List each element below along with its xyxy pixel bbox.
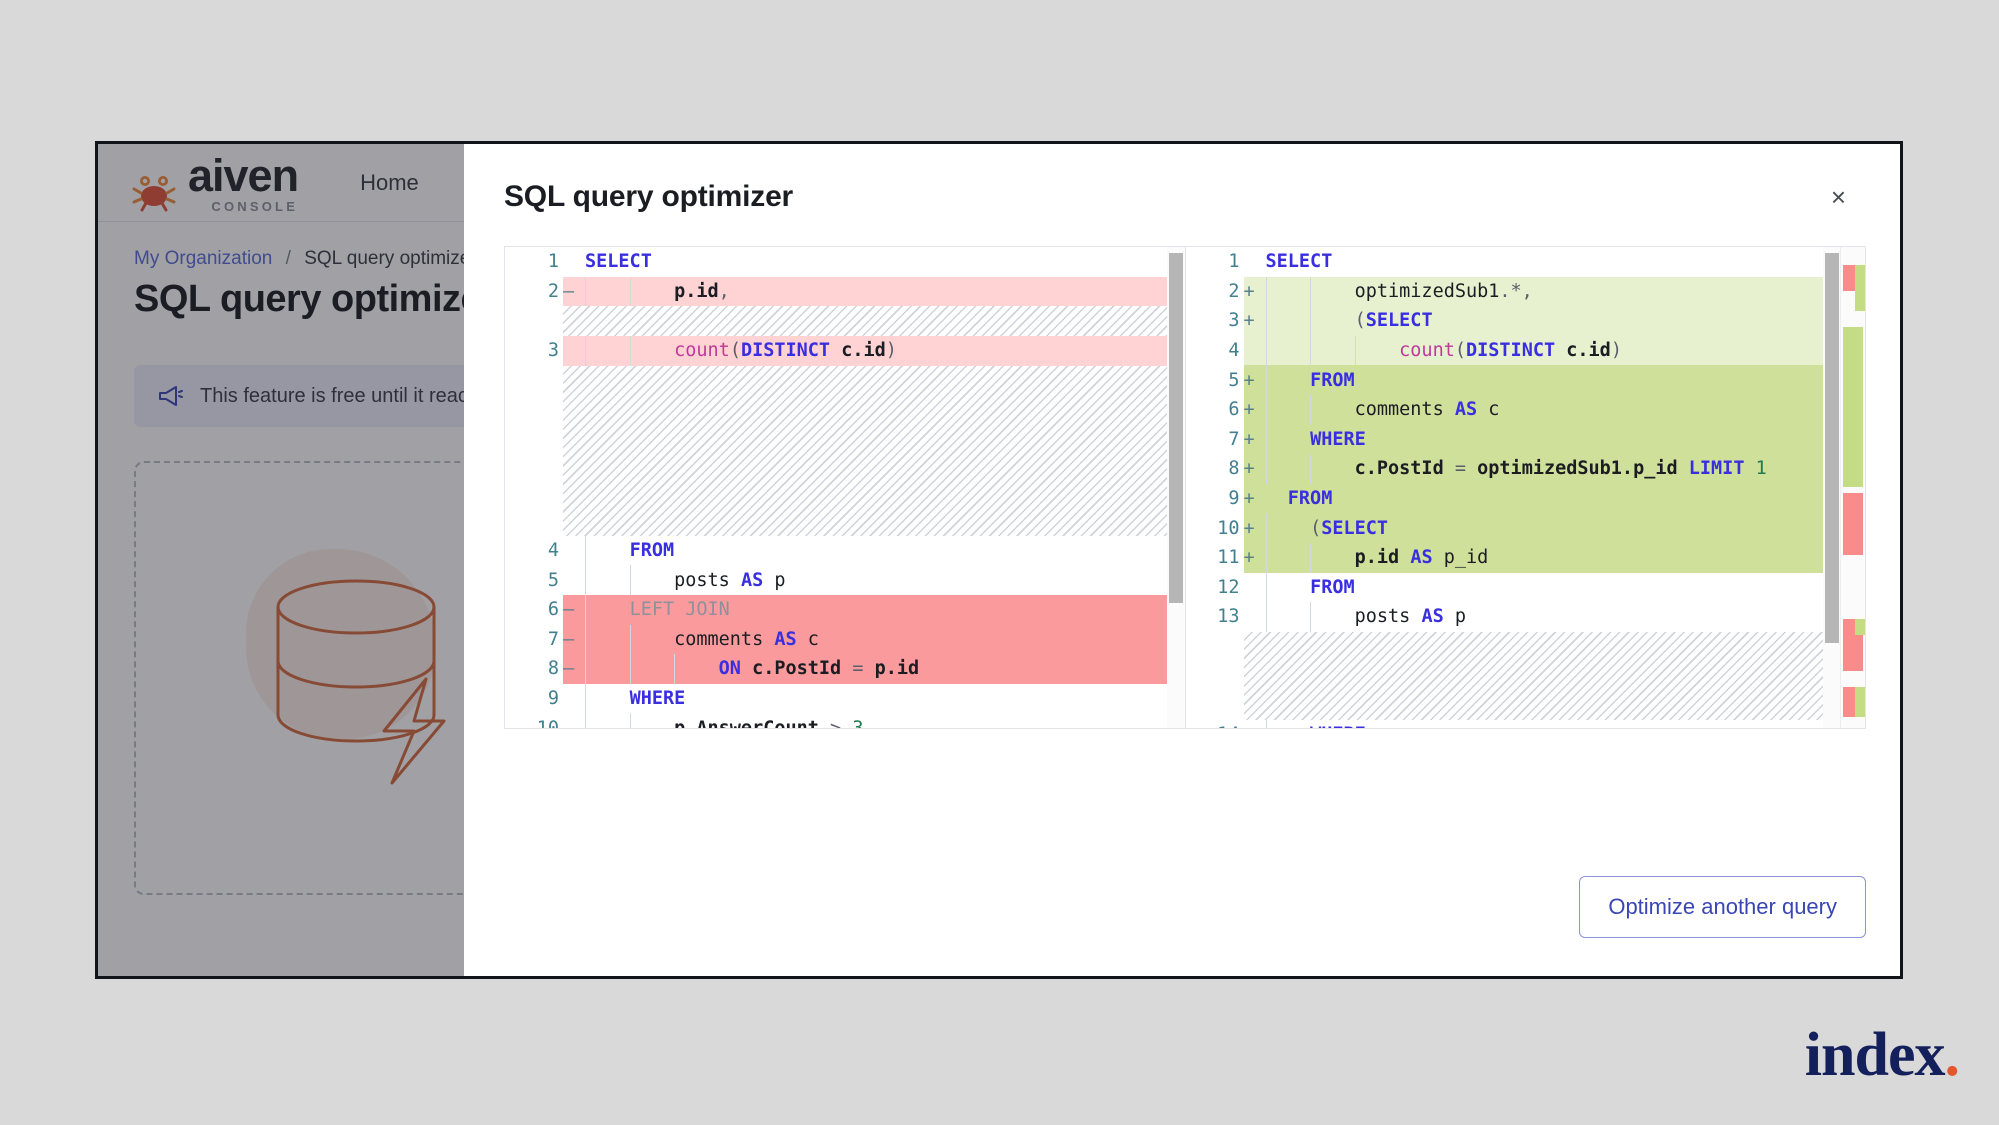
- diff-sign: –: [563, 658, 577, 679]
- diff-line[interactable]: 12 FROM: [1186, 573, 1866, 603]
- diff-line[interactable]: 2+ optimizedSub1.*,: [1186, 277, 1866, 307]
- code-text: FROM: [1258, 488, 1866, 509]
- code-text: posts AS p: [577, 570, 1185, 591]
- line-number: 14: [1186, 724, 1244, 728]
- code-text: ON c.PostId = p.id: [577, 658, 1185, 679]
- index-dot: .: [1945, 1021, 1960, 1089]
- diff-sign: +: [1244, 370, 1258, 391]
- diff-line[interactable]: 6– LEFT JOIN: [505, 595, 1185, 625]
- diff-line[interactable]: 7– comments AS c: [505, 625, 1185, 655]
- diff-sign: +: [1244, 518, 1258, 539]
- diff-line[interactable]: 5 posts AS p: [505, 565, 1185, 595]
- code-text: count(DISTINCT c.id): [577, 340, 1185, 361]
- code-text: optimizedSub1.*,: [1258, 281, 1866, 302]
- code-text: p.AnswerCount > 3: [577, 718, 1185, 728]
- code-text: LEFT JOIN: [577, 599, 1185, 620]
- diff-minimap[interactable]: [1840, 247, 1865, 728]
- right-pane-scrollbar[interactable]: [1823, 247, 1841, 728]
- diff-pane-optimized[interactable]: 1SELECT2+ optimizedSub1.*,3+ (SELECT4 co…: [1185, 247, 1866, 728]
- line-number: 5: [1186, 370, 1244, 391]
- code-text: FROM: [577, 540, 1185, 561]
- code-text: c.PostId = optimizedSub1.p_id LIMIT 1: [1258, 458, 1866, 479]
- code-text: posts AS p: [1258, 606, 1866, 627]
- diff-sign: –: [563, 599, 577, 620]
- optimize-another-query-button[interactable]: Optimize another query: [1579, 876, 1866, 938]
- diff-sign: –: [563, 629, 577, 650]
- code-text: SELECT: [1258, 251, 1866, 272]
- diff-line[interactable]: 8– ON c.PostId = p.id: [505, 654, 1185, 684]
- line-number: 7: [505, 629, 563, 650]
- sql-query-optimizer-modal: SQL query optimizer × 1SELECT2– p.id,3 c…: [464, 144, 1903, 976]
- code-text: WHERE: [1258, 429, 1866, 450]
- diff-gap-hatch: [1244, 632, 1866, 720]
- line-number: 5: [505, 570, 563, 591]
- code-text: FROM: [1258, 370, 1866, 391]
- diff-line[interactable]: 14 WHERE: [1186, 720, 1866, 728]
- code-text: count(DISTINCT c.id): [1258, 340, 1866, 361]
- line-number: 8: [505, 658, 563, 679]
- code-text: p.id AS p_id: [1258, 547, 1866, 568]
- line-number: 11: [1186, 547, 1244, 568]
- line-number: 1: [505, 251, 563, 272]
- diff-sign: +: [1244, 281, 1258, 302]
- line-number: 8: [1186, 458, 1244, 479]
- line-number: 10: [1186, 518, 1244, 539]
- code-text: comments AS c: [577, 629, 1185, 650]
- line-number: 7: [1186, 429, 1244, 450]
- code-text: comments AS c: [1258, 399, 1866, 420]
- diff-sign: +: [1244, 547, 1258, 568]
- modal-title: SQL query optimizer: [504, 180, 793, 214]
- diff-sign: +: [1244, 488, 1258, 509]
- modal-footer: Optimize another query: [464, 876, 1903, 976]
- line-number: 4: [505, 540, 563, 561]
- code-text: WHERE: [577, 688, 1185, 709]
- diff-line[interactable]: 7+ WHERE: [1186, 425, 1866, 455]
- diff-line[interactable]: 3+ (SELECT: [1186, 306, 1866, 336]
- diff-line[interactable]: 11+ p.id AS p_id: [1186, 543, 1866, 573]
- diff-sign: +: [1244, 429, 1258, 450]
- code-text: (SELECT: [1258, 518, 1866, 539]
- diff-sign: +: [1244, 399, 1258, 420]
- diff-gap-hatch: [563, 306, 1185, 336]
- close-icon[interactable]: ×: [1827, 180, 1850, 214]
- line-number: 6: [1186, 399, 1244, 420]
- diff-pane-original[interactable]: 1SELECT2– p.id,3 count(DISTINCT c.id)4 F…: [505, 247, 1185, 728]
- index-wordmark: index: [1805, 1021, 1945, 1089]
- diff-line[interactable]: 3 count(DISTINCT c.id): [505, 336, 1185, 366]
- left-pane-scrollbar[interactable]: [1167, 247, 1185, 728]
- line-number: 10: [505, 718, 563, 728]
- code-text: WHERE: [1258, 724, 1866, 728]
- modal-header: SQL query optimizer ×: [464, 144, 1903, 214]
- code-text: FROM: [1258, 577, 1866, 598]
- line-number: 1: [1186, 251, 1244, 272]
- index-brand-logo: index.: [1805, 1020, 1959, 1091]
- diff-gap-hatch: [563, 366, 1185, 536]
- line-number: 9: [505, 688, 563, 709]
- line-number: 4: [1186, 340, 1244, 361]
- line-number: 2: [505, 281, 563, 302]
- diff-sign: –: [563, 281, 577, 302]
- diff-viewer: 1SELECT2– p.id,3 count(DISTINCT c.id)4 F…: [504, 246, 1866, 729]
- diff-line[interactable]: 4 FROM: [505, 536, 1185, 566]
- diff-line[interactable]: 13 posts AS p: [1186, 602, 1866, 632]
- line-number: 12: [1186, 577, 1244, 598]
- diff-line[interactable]: 10 p.AnswerCount > 3: [505, 713, 1185, 728]
- line-number: 9: [1186, 488, 1244, 509]
- code-text: p.id,: [577, 281, 1185, 302]
- diff-line[interactable]: 9 WHERE: [505, 684, 1185, 714]
- diff-line[interactable]: 1SELECT: [505, 247, 1185, 277]
- browser-window: aiven CONSOLE Home Pr My Organization / …: [95, 141, 1903, 979]
- diff-line[interactable]: 2– p.id,: [505, 277, 1185, 307]
- code-text: SELECT: [577, 251, 1185, 272]
- diff-line[interactable]: 9+ FROM: [1186, 484, 1866, 514]
- diff-sign: +: [1244, 310, 1258, 331]
- diff-sign: +: [1244, 458, 1258, 479]
- diff-line[interactable]: 4 count(DISTINCT c.id): [1186, 336, 1866, 366]
- line-number: 3: [1186, 310, 1244, 331]
- diff-line[interactable]: 8+ c.PostId = optimizedSub1.p_id LIMIT 1: [1186, 454, 1866, 484]
- diff-line[interactable]: 6+ comments AS c: [1186, 395, 1866, 425]
- line-number: 3: [505, 340, 563, 361]
- diff-line[interactable]: 10+ (SELECT: [1186, 513, 1866, 543]
- code-text: (SELECT: [1258, 310, 1866, 331]
- diff-line[interactable]: 5+ FROM: [1186, 365, 1866, 395]
- line-number: 13: [1186, 606, 1244, 627]
- line-number: 2: [1186, 281, 1244, 302]
- diff-line[interactable]: 1SELECT: [1186, 247, 1866, 277]
- line-number: 6: [505, 599, 563, 620]
